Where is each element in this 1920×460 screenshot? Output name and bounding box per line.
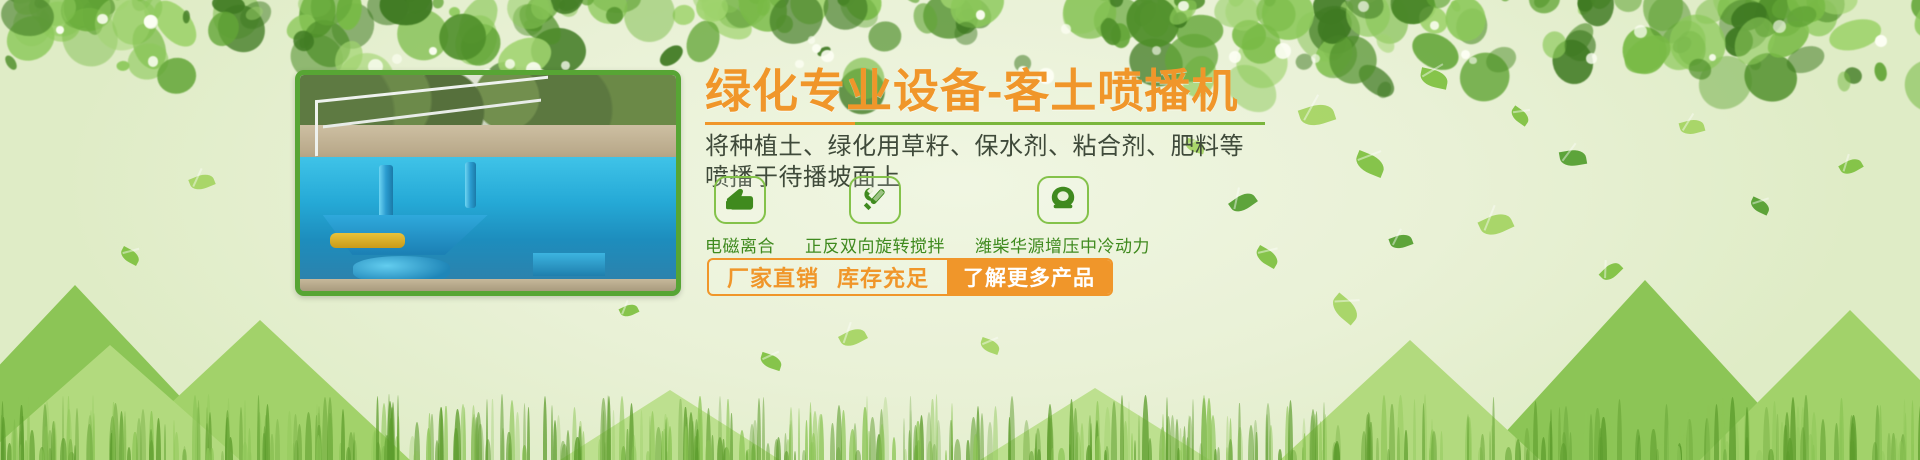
divider-orange-segment — [705, 122, 855, 125]
cta-text-right: 库存充足 — [837, 261, 929, 293]
feature-item-weichai-power: 潍柴华源增压中冷动力 — [975, 176, 1150, 257]
cta-bar: 厂家直销 库存充足 了解更多产品 — [707, 258, 1113, 296]
divider-green-segment — [855, 122, 1265, 125]
feature-icon-box — [849, 176, 901, 224]
feature-icon-box — [1037, 176, 1089, 224]
learn-more-button[interactable]: 了解更多产品 — [947, 260, 1111, 294]
feature-label: 正反双向旋转搅拌 — [805, 232, 945, 257]
photo-yellow-tank — [330, 233, 405, 248]
feature-label: 潍柴华源增压中冷动力 — [975, 232, 1150, 257]
banner-text-column: 绿化专业设备-客土喷播机 将种植土、绿化用草籽、保水剂、粘合剂、肥料等 喷播于待… — [705, 66, 1405, 194]
product-photo-image — [300, 75, 676, 291]
feature-label: 电磁离合 — [705, 232, 775, 257]
photo-pipe-1 — [379, 165, 393, 219]
promo-banner: 绿化专业设备-客土喷播机 将种植土、绿化用草籽、保水剂、粘合剂、肥料等 喷播于待… — [0, 0, 1920, 460]
cta-text-left: 厂家直销 — [727, 261, 819, 293]
photo-machine-body — [300, 157, 676, 291]
engine-gear-icon — [1048, 184, 1078, 217]
feature-list: 电磁离合 正反双向旋转搅拌 — [705, 176, 1425, 257]
feature-item-bidirectional-mixing: 正反双向旋转搅拌 — [805, 176, 945, 257]
feature-icon-box — [714, 176, 766, 224]
photo-ground — [300, 279, 676, 291]
wrench-screwdriver-icon — [860, 184, 890, 217]
thumbs-up-icon — [725, 184, 755, 217]
product-photo — [295, 70, 681, 296]
banner-subtitle-line-1: 将种植土、绿化用草籽、保水剂、粘合剂、肥料等 — [705, 131, 1405, 163]
title-divider — [705, 122, 1265, 125]
photo-pipe-2 — [465, 162, 476, 208]
photo-control-box — [533, 253, 604, 276]
banner-title: 绿化专业设备-客土喷播机 — [705, 66, 1405, 118]
feature-item-electromagnetic-clutch: 电磁离合 — [705, 176, 775, 257]
cta-text: 厂家直销 库存充足 — [709, 260, 947, 294]
